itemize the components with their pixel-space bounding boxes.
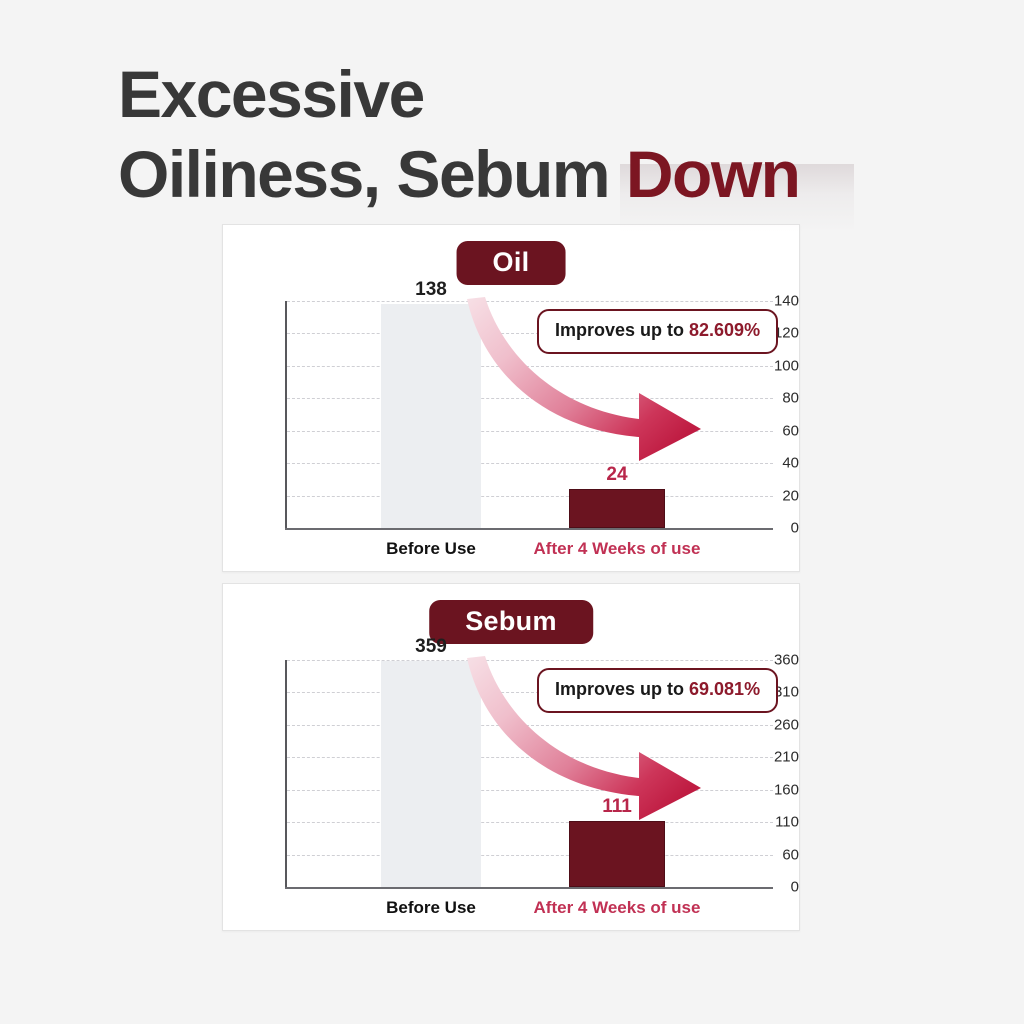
y-tick-label: 0 bbox=[747, 520, 799, 537]
gridline bbox=[287, 822, 773, 823]
y-tick-label: 210 bbox=[747, 749, 799, 766]
title-line-2-dark: Oiliness, Sebum bbox=[118, 137, 626, 211]
category-label-after: After 4 Weeks of use bbox=[527, 898, 707, 918]
y-tick-label: 60 bbox=[747, 846, 799, 863]
gridline bbox=[287, 463, 773, 464]
y-tick-label: 40 bbox=[747, 455, 799, 472]
callout-percent: 69.081% bbox=[689, 679, 760, 699]
x-axis-line bbox=[285, 528, 773, 530]
y-tick-label: 0 bbox=[747, 879, 799, 896]
title-accent-word: Down bbox=[626, 137, 800, 211]
y-tick-label: 110 bbox=[747, 814, 799, 831]
gridline bbox=[287, 790, 773, 791]
gridline bbox=[287, 496, 773, 497]
y-tick-label: 60 bbox=[747, 422, 799, 439]
y-tick-label: 360 bbox=[747, 652, 799, 669]
gridline bbox=[287, 431, 773, 432]
gridline bbox=[287, 366, 773, 367]
chart-panel-sebum: Sebum 060110160210260310360 359 111 Befo… bbox=[222, 583, 800, 931]
y-tick-label: 100 bbox=[747, 357, 799, 374]
page-title: Excessive Oiliness, Sebum Down bbox=[118, 58, 938, 210]
chart-panel-oil: Oil 020406080100120140 138 24 Before Use… bbox=[222, 224, 800, 572]
gridline bbox=[287, 301, 773, 302]
title-line-2: Oiliness, Sebum Down bbox=[118, 138, 938, 210]
gridline bbox=[287, 725, 773, 726]
bar-value-after: 111 bbox=[569, 796, 665, 818]
category-label-before: Before Use bbox=[351, 898, 511, 918]
bar-value-before: 138 bbox=[381, 279, 481, 301]
plot-area-oil: 020406080100120140 138 24 Before Use Aft… bbox=[223, 225, 799, 571]
y-tick-label: 160 bbox=[747, 781, 799, 798]
callout-prefix: Improves up to bbox=[555, 320, 689, 340]
callout-improvement-sebum: Improves up to 69.081% bbox=[537, 668, 778, 713]
category-label-after: After 4 Weeks of use bbox=[527, 539, 707, 559]
title-down-wrapper: Down bbox=[626, 138, 800, 210]
category-label-before: Before Use bbox=[351, 539, 511, 559]
y-tick-label: 260 bbox=[747, 716, 799, 733]
callout-percent: 82.609% bbox=[689, 320, 760, 340]
plot-area-sebum: 060110160210260310360 359 111 Before Use… bbox=[223, 584, 799, 930]
y-tick-label: 140 bbox=[747, 293, 799, 310]
gridline bbox=[287, 855, 773, 856]
gridline bbox=[287, 757, 773, 758]
bar-before-use bbox=[381, 304, 481, 528]
title-line-1: Excessive bbox=[118, 58, 938, 130]
bar-value-after: 24 bbox=[569, 464, 665, 486]
bar-after-use bbox=[569, 821, 665, 887]
bar-after-use bbox=[569, 489, 665, 528]
gridline bbox=[287, 660, 773, 661]
callout-improvement-oil: Improves up to 82.609% bbox=[537, 309, 778, 354]
x-axis-line bbox=[285, 887, 773, 889]
bar-value-before: 359 bbox=[381, 636, 481, 658]
y-tick-label: 80 bbox=[747, 390, 799, 407]
y-tick-label: 20 bbox=[747, 487, 799, 504]
gridline bbox=[287, 398, 773, 399]
bar-before-use bbox=[381, 661, 481, 887]
callout-prefix: Improves up to bbox=[555, 679, 689, 699]
